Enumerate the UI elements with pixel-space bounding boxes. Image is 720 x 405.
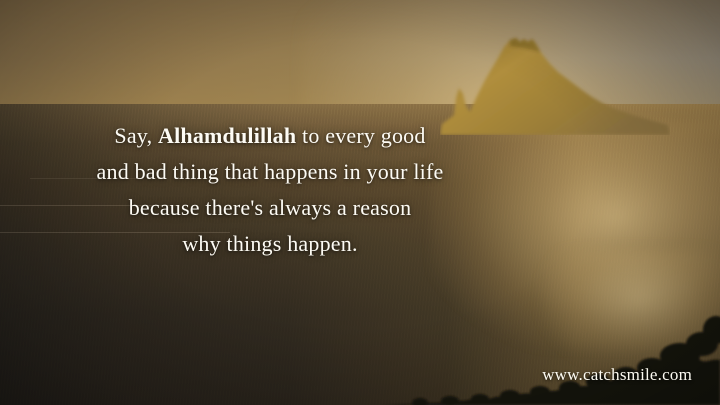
quote-text-block: Say, Alhamdulillah to every good and bad… (20, 118, 520, 262)
quote-emphasis-word: Alhamdulillah (158, 123, 296, 148)
watermark-url: www.catchsmile.com (542, 365, 692, 385)
quote-line-1-pre: Say, (114, 123, 158, 148)
quote-line-4: why things happen. (20, 226, 520, 262)
quote-line-2: and bad thing that happens in your life (20, 154, 520, 190)
quote-line-1-post: to every good (296, 123, 425, 148)
quote-line-3: because there's always a reason (20, 190, 520, 226)
quote-line-1: Say, Alhamdulillah to every good (20, 118, 520, 154)
quote-image: Say, Alhamdulillah to every good and bad… (0, 0, 720, 405)
foliage-silhouette (380, 300, 720, 405)
